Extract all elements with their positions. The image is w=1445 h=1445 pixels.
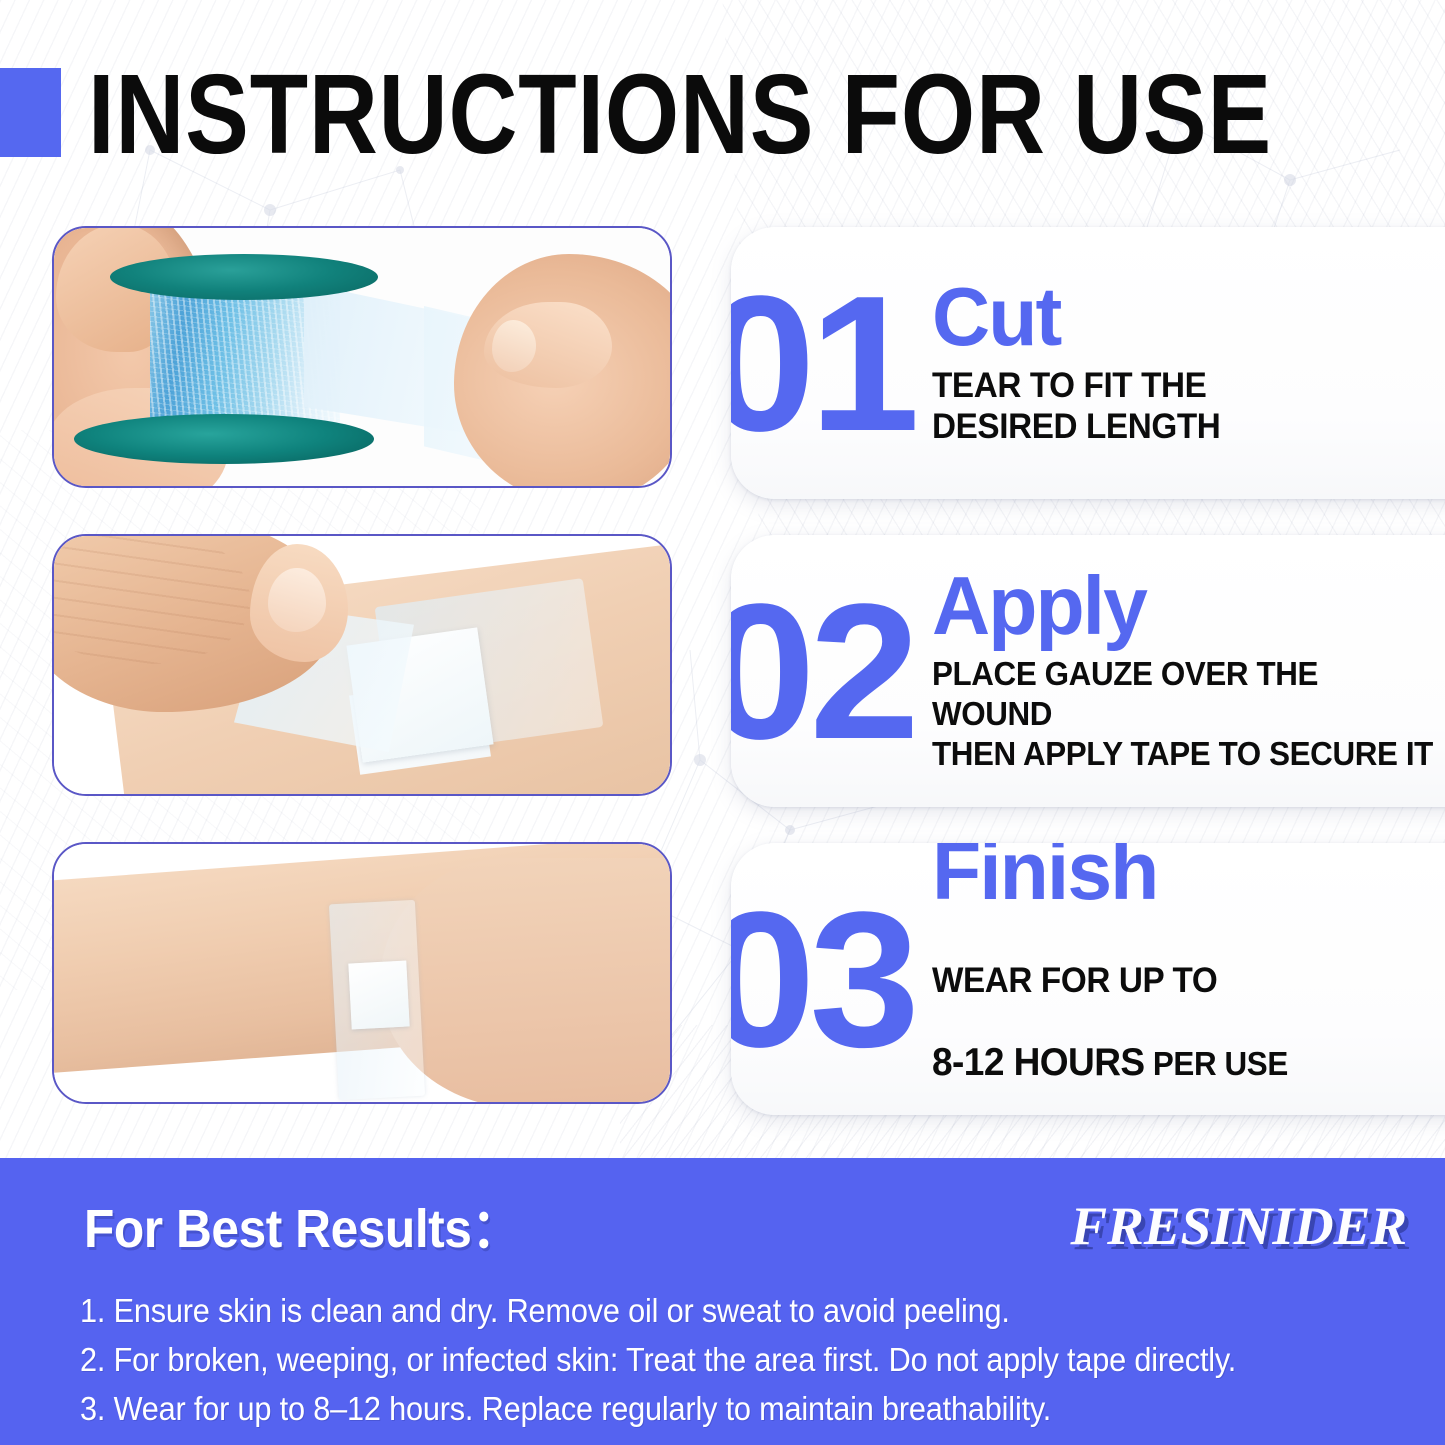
step-title-cut: Cut — [932, 275, 1226, 359]
wear-duration-value: 8-12 HOURS — [932, 1041, 1145, 1084]
step-photo-apply — [52, 534, 672, 796]
best-results-heading: For Best Results： — [84, 1200, 521, 1258]
step-photo-cut — [52, 226, 672, 488]
brand-logo: FRESINIDER — [1070, 1196, 1407, 1256]
step-description-cut: TEAR TO FIT THE DESIRED LENGTH — [932, 365, 1220, 447]
list-item: 3. Wear for up to 8–12 hours. Replace re… — [80, 1384, 1317, 1433]
tape-spool-bottom-flange — [74, 414, 374, 464]
tape-spool-top-flange — [110, 254, 378, 300]
wear-duration-suffix: PER USE — [1144, 1045, 1287, 1082]
page-header: INSTRUCTIONS FOR USE — [0, 58, 1445, 168]
best-results-tip-list: 1. Ensure skin is clean and dry. Remove … — [80, 1286, 1410, 1433]
step-description-finish: WEAR FOR UP TO 8-12 HOURS PER USE — [932, 919, 1288, 1115]
step-number-01: 01 — [731, 267, 914, 460]
step-card-cut: 01 Cut TEAR TO FIT THE DESIRED LENGTH — [731, 227, 1445, 499]
step-description-finish-line2: 8-12 HOURS PER USE — [932, 1042, 1288, 1084]
list-item: 2. For broken, weeping, or infected skin… — [80, 1335, 1317, 1384]
step-title-finish: Finish — [932, 843, 1295, 913]
step-card-finish: 03 Finish WEAR FOR UP TO 8-12 HOURS PER … — [731, 843, 1445, 1115]
step-photo-apply-image — [54, 536, 670, 794]
step-description-apply: PLACE GAUZE OVER THE WOUND THEN APPLY TA… — [932, 654, 1444, 774]
header-accent-block — [0, 68, 61, 157]
step-number-03: 03 — [731, 883, 914, 1076]
gauze-pad — [348, 961, 409, 1030]
step-photo-finish-image — [54, 844, 670, 1102]
step-number-02: 02 — [731, 575, 914, 768]
step-card-apply: 02 Apply PLACE GAUZE OVER THE WOUND THEN… — [731, 535, 1445, 807]
step-photo-cut-image — [54, 228, 670, 486]
best-results-panel: For Best Results： FRESINIDER 1. Ensure s… — [0, 1158, 1445, 1445]
page-title: INSTRUCTIONS FOR USE — [88, 55, 1272, 173]
step-description-finish-line1: WEAR FOR UP TO — [932, 960, 1288, 1001]
list-item: 1. Ensure skin is clean and dry. Remove … — [80, 1286, 1317, 1335]
step-text-block: Finish WEAR FOR UP TO 8-12 HOURS PER USE — [932, 843, 1307, 1115]
step-title-apply: Apply — [932, 564, 1445, 648]
knuckle-texture — [54, 536, 250, 664]
step-photo-finish — [52, 842, 672, 1104]
thumbnail-shape — [268, 568, 326, 632]
step-text-block: Apply PLACE GAUZE OVER THE WOUND THEN AP… — [932, 564, 1445, 778]
step-text-block: Cut TEAR TO FIT THE DESIRED LENGTH — [932, 275, 1236, 451]
